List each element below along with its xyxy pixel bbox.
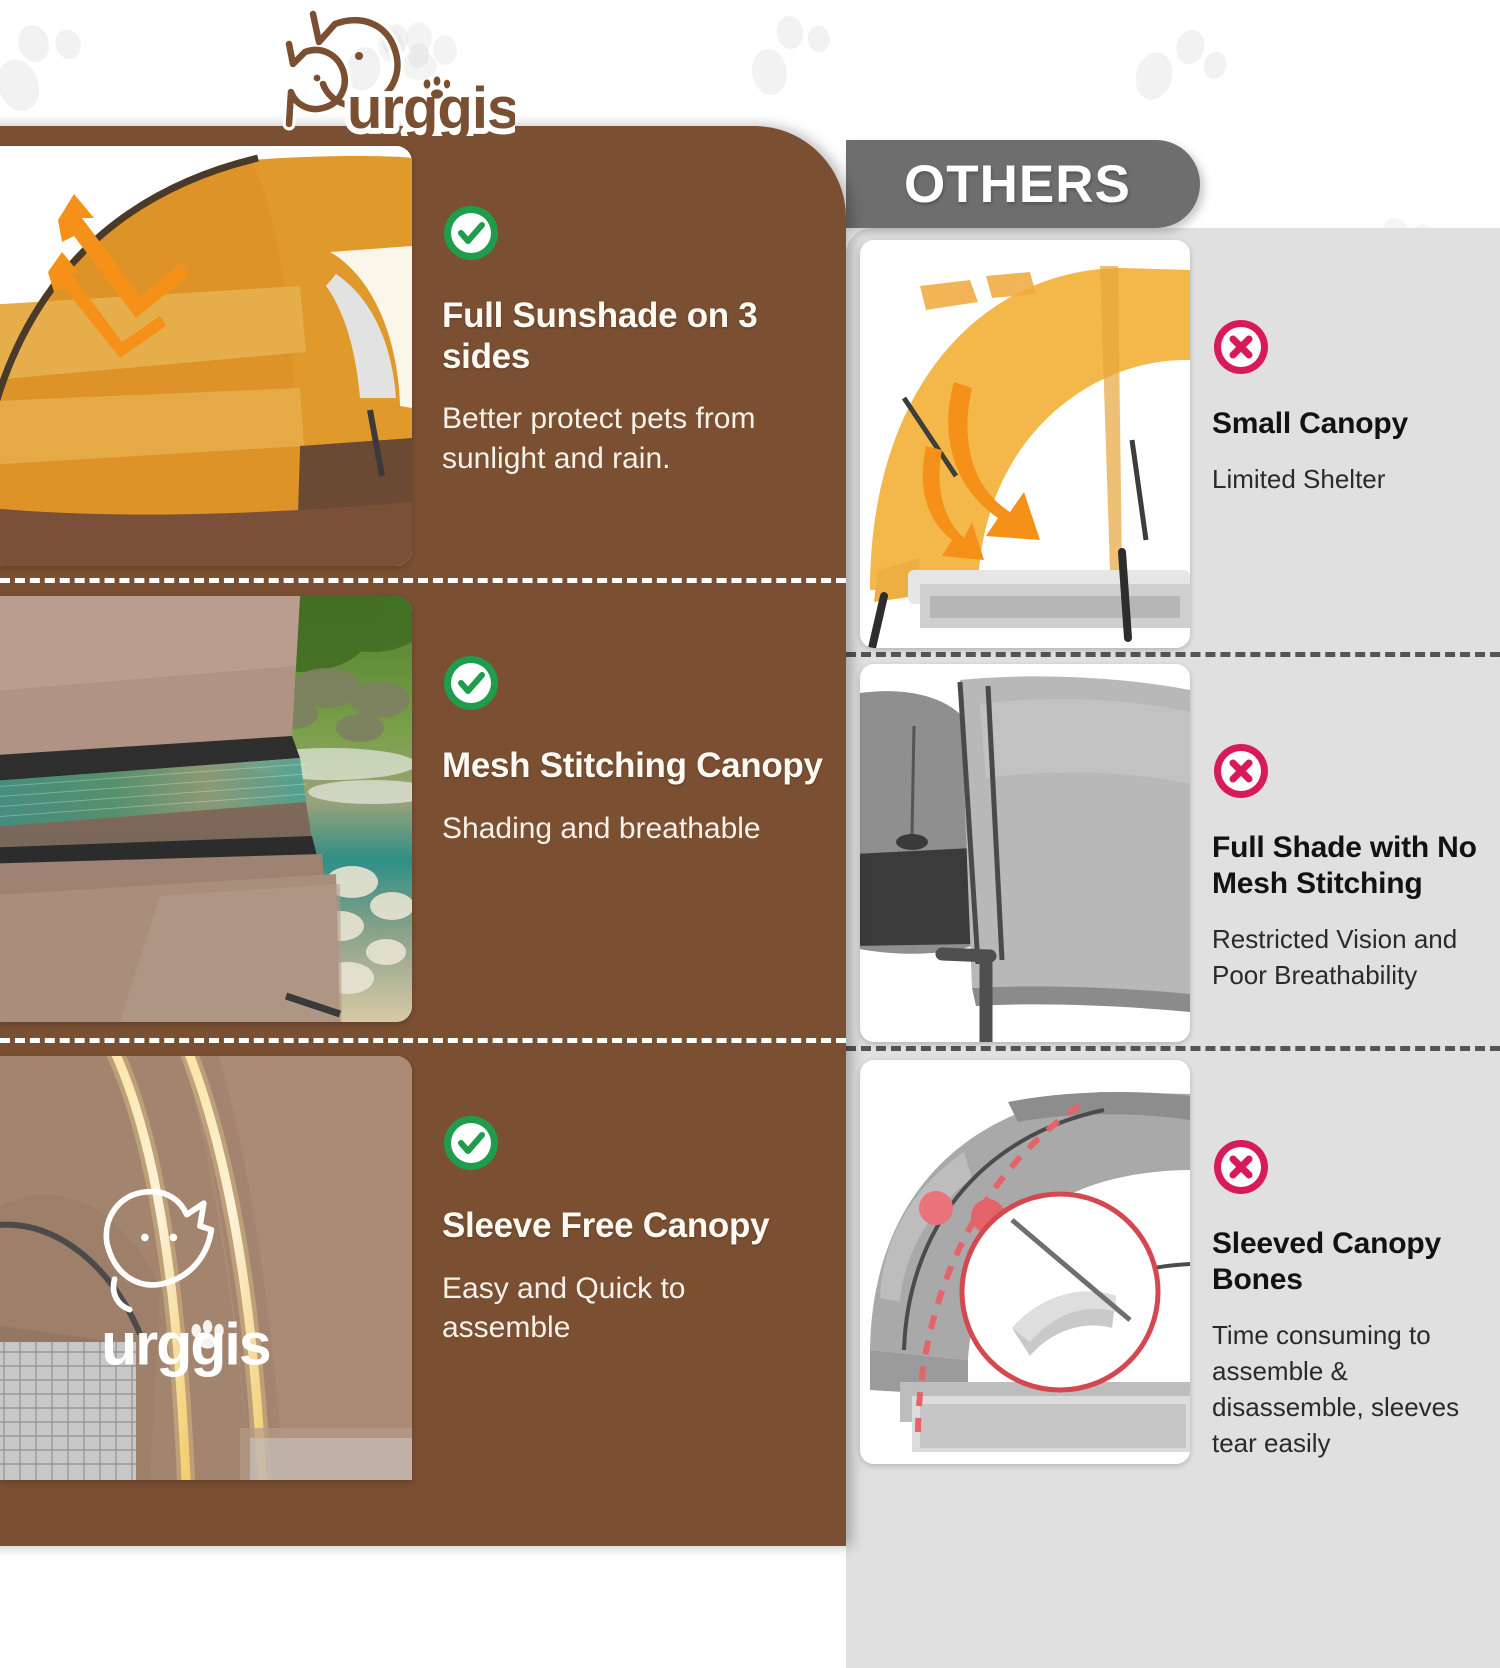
others-header-label: OTHERS [904, 154, 1131, 215]
check-circle-icon [442, 1114, 500, 1172]
others-text-2: Full Shade with No Mesh Stitching Restri… [1190, 664, 1500, 994]
svg-text:urggis: urggis [347, 76, 515, 136]
ours-description-2: Shading and breathable [442, 809, 802, 849]
others-description-3: Time consuming to assemble & disassemble… [1212, 1318, 1486, 1462]
ours-image-2 [0, 596, 412, 1022]
others-title-1: Small Canopy [1212, 406, 1486, 442]
ours-description-3: Easy and Quick to assemble [442, 1269, 802, 1349]
others-text-3: Sleeved Canopy Bones Time consuming to a… [1190, 1060, 1500, 1462]
ours-title-2: Mesh Stitching Canopy [442, 746, 828, 787]
others-divider-2 [846, 1046, 1500, 1051]
others-divider-1 [846, 652, 1500, 657]
ours-divider-1 [0, 578, 846, 583]
others-description-2: Restricted Vision and Poor Breathability [1212, 922, 1486, 994]
ours-text-2: Mesh Stitching Canopy Shading and breath… [412, 596, 846, 848]
ours-image-1 [0, 146, 412, 566]
ours-image-3: urggis [0, 1056, 412, 1480]
others-row-1: Small Canopy Limited Shelter [846, 240, 1500, 652]
cross-circle-icon [1212, 318, 1270, 376]
ours-row-3: urggis [0, 1056, 846, 1480]
others-description-1: Limited Shelter [1212, 462, 1486, 498]
others-row-3: Sleeved Canopy Bones Time consuming to a… [846, 1060, 1500, 1480]
others-image-3 [860, 1060, 1190, 1464]
cross-circle-icon [1212, 742, 1270, 800]
brand-logo: urggis urggis [255, 2, 515, 136]
others-header-badge: OTHERS [846, 140, 1200, 228]
ours-text-3: Sleeve Free Canopy Easy and Quick to ass… [412, 1056, 846, 1348]
cross-circle-icon [1212, 1138, 1270, 1196]
comparison-board: OTHERS [0, 0, 1500, 1480]
ours-title-1: Full Sunshade on 3 sides [442, 296, 828, 377]
others-title-3: Sleeved Canopy Bones [1212, 1226, 1486, 1298]
ours-row-2: Mesh Stitching Canopy Shading and breath… [0, 596, 846, 1022]
others-row-2: Full Shade with No Mesh Stitching Restri… [846, 664, 1500, 1046]
check-circle-icon [442, 204, 500, 262]
check-circle-icon [442, 654, 500, 712]
ours-description-1: Better protect pets from sunlight and ra… [442, 399, 802, 479]
ours-title-3: Sleeve Free Canopy [442, 1206, 828, 1247]
others-image-2 [860, 664, 1190, 1042]
ours-row-1: Full Sunshade on 3 sides Better protect … [0, 146, 846, 566]
ours-divider-2 [0, 1038, 846, 1043]
others-text-1: Small Canopy Limited Shelter [1190, 240, 1500, 498]
ours-text-1: Full Sunshade on 3 sides Better protect … [412, 146, 846, 479]
others-image-1 [860, 240, 1190, 648]
svg-text:urggis: urggis [101, 1313, 270, 1378]
others-title-2: Full Shade with No Mesh Stitching [1212, 830, 1486, 902]
